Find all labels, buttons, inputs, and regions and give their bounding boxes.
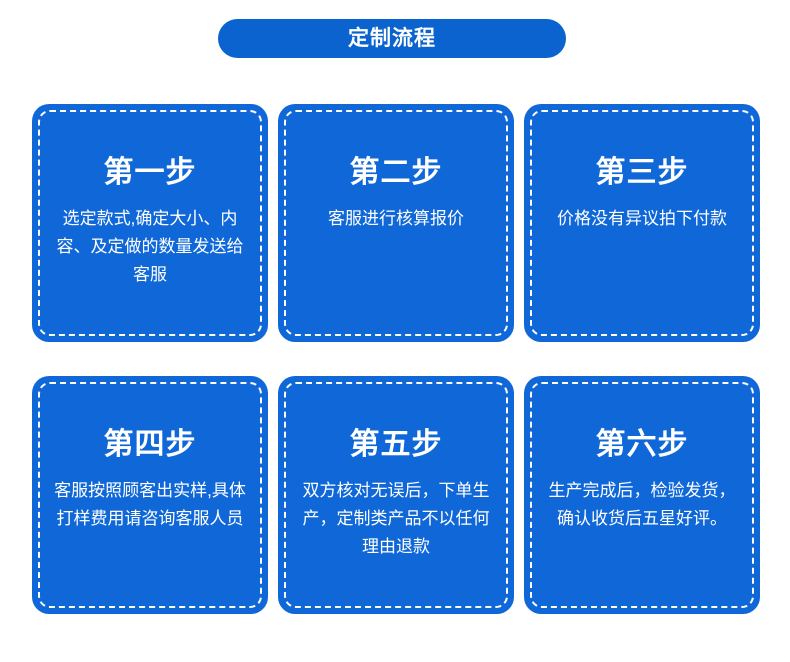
step-2-body: 客服进行核算报价: [328, 205, 464, 233]
section-title-text: 定制流程: [348, 28, 436, 49]
step-4-body: 客服按照顾客出实样,具体打样费用请咨询客服人员: [52, 477, 248, 533]
step-5-heading: 第五步: [350, 428, 443, 461]
step-5-body: 双方核对无误后，下单生产，定制类产品不以任何理由退款: [298, 477, 494, 561]
step-3-heading: 第三步: [596, 156, 689, 189]
step-card-2: 第二步 客服进行核算报价: [278, 104, 514, 342]
step-card-6: 第六步 生产完成后，检验发货，确认收货后五星好评。: [524, 376, 760, 614]
step-1-heading: 第一步: [104, 156, 197, 189]
step-6-body: 生产完成后，检验发货，确认收货后五星好评。: [544, 477, 740, 533]
customization-process-infographic: 定制流程 第一步 选定款式,确定大小、内容、及定做的数量发送给客服 第二步 客服…: [0, 0, 790, 662]
step-2-heading: 第二步: [350, 156, 443, 189]
section-title-pill: 定制流程: [218, 19, 566, 58]
step-card-3: 第三步 价格没有异议拍下付款: [524, 104, 760, 342]
steps-grid: 第一步 选定款式,确定大小、内容、及定做的数量发送给客服 第二步 客服进行核算报…: [32, 104, 760, 614]
step-4-heading: 第四步: [104, 428, 197, 461]
step-card-4: 第四步 客服按照顾客出实样,具体打样费用请咨询客服人员: [32, 376, 268, 614]
step-3-body: 价格没有异议拍下付款: [557, 205, 727, 233]
step-1-body: 选定款式,确定大小、内容、及定做的数量发送给客服: [52, 205, 248, 289]
step-card-5: 第五步 双方核对无误后，下单生产，定制类产品不以任何理由退款: [278, 376, 514, 614]
step-6-heading: 第六步: [596, 428, 689, 461]
step-card-1: 第一步 选定款式,确定大小、内容、及定做的数量发送给客服: [32, 104, 268, 342]
